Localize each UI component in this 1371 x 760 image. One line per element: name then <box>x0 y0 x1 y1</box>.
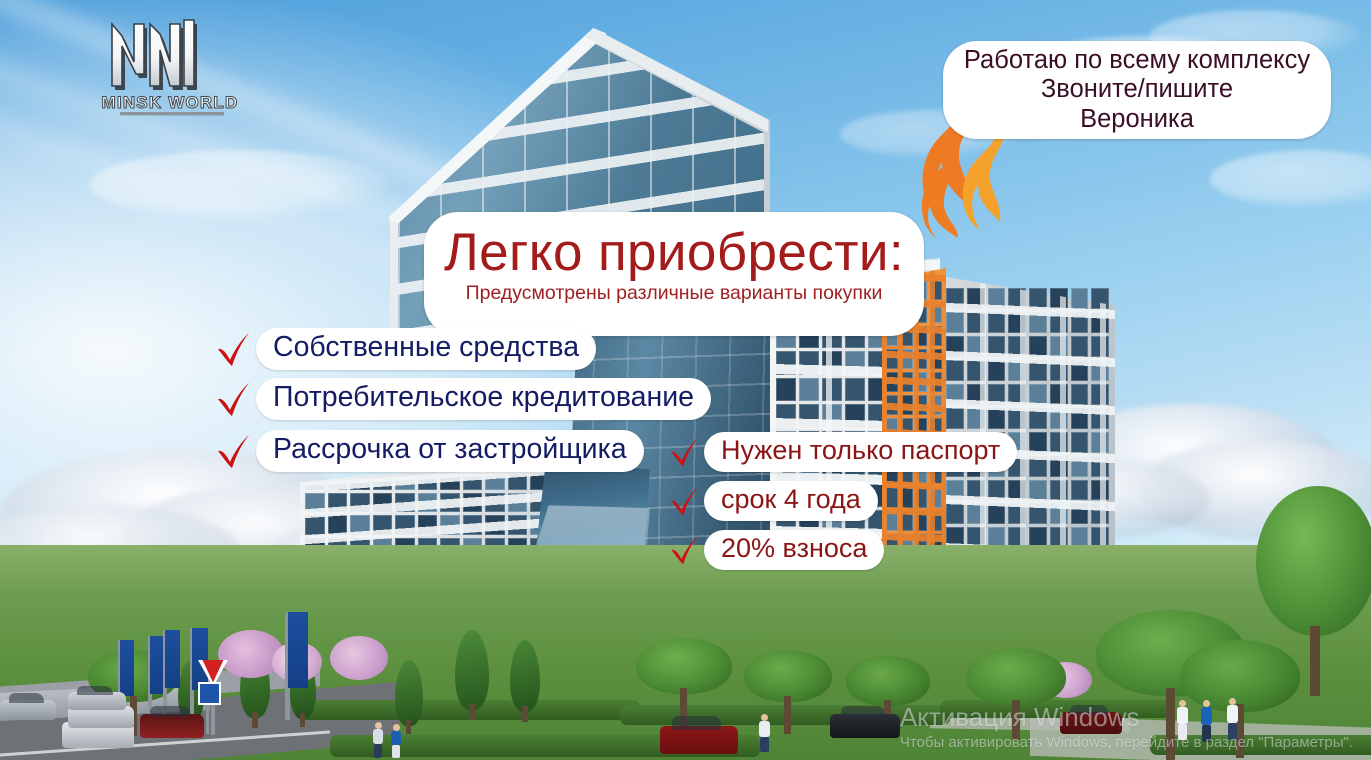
installment-term-label: Нужен только паспорт <box>704 432 1017 472</box>
headline-subtitle: Предусмотрены различные варианты покупки <box>466 282 883 305</box>
car <box>140 714 204 738</box>
street-banner <box>165 630 180 688</box>
installment-term-row: 20% взноса <box>668 530 884 570</box>
pedestrian <box>1176 700 1189 740</box>
installment-term-label: 20% взноса <box>704 530 884 570</box>
headline-title: Легко приобрести: <box>444 226 904 280</box>
car <box>660 726 738 754</box>
pedestrian <box>1200 700 1213 742</box>
payment-option-label: Рассрочка от застройщика <box>256 430 644 472</box>
car <box>68 692 126 710</box>
check-icon <box>668 483 700 519</box>
street-banner <box>120 640 134 696</box>
logo-underline <box>120 112 224 115</box>
payment-option-label: Потребительское кредитование <box>256 378 711 420</box>
installment-term-label: срок 4 года <box>704 481 878 521</box>
contact-bubble: Работаю по всему комплексу Звоните/пишит… <box>943 41 1331 139</box>
contact-line-2: Звоните/пишите <box>1041 75 1233 105</box>
poster-canvas: MINSK WORLD Работаю по всему комплексу З… <box>0 0 1371 760</box>
pedestrian-sign-pole <box>206 700 209 734</box>
tree-broadleaf <box>966 648 1066 740</box>
pedestrian <box>1226 698 1239 740</box>
pedestrian <box>758 714 771 752</box>
pedestrian <box>390 724 402 758</box>
pedestrian <box>372 722 384 758</box>
check-icon <box>214 431 252 471</box>
street-banner <box>288 612 308 688</box>
check-icon <box>214 329 252 369</box>
tree-conifer <box>455 630 489 720</box>
tree-conifer <box>510 640 540 722</box>
check-icon <box>668 532 700 568</box>
minsk-world-logo-icon: MINSK WORLD <box>92 16 252 120</box>
tree-conifer <box>395 660 423 734</box>
pedestrian-crossing-sign-icon <box>198 682 221 705</box>
logo-wordmark: MINSK WORLD <box>102 93 239 112</box>
payment-option-row: Рассрочка от застройщика <box>214 430 644 472</box>
check-icon <box>668 434 700 470</box>
car <box>1060 712 1122 734</box>
street-banner <box>192 628 208 690</box>
cloud <box>90 150 390 220</box>
headline-bubble: Легко приобрести: Предусмотрены различны… <box>424 212 924 336</box>
installment-term-row: срок 4 года <box>668 481 878 521</box>
payment-option-label: Собственные средства <box>256 328 596 370</box>
tree-broadleaf <box>1180 640 1300 758</box>
tree-blossom <box>330 636 388 700</box>
installment-term-row: Нужен только паспорт <box>668 432 1017 472</box>
payment-option-row: Собственные средства <box>214 328 596 370</box>
car <box>830 714 900 738</box>
car <box>0 700 56 720</box>
payment-option-row: Потребительское кредитование <box>214 378 711 420</box>
contact-line-1: Работаю по всему комплексу <box>964 46 1310 76</box>
check-icon <box>214 379 252 419</box>
contact-line-3: Вероника <box>1080 105 1194 135</box>
